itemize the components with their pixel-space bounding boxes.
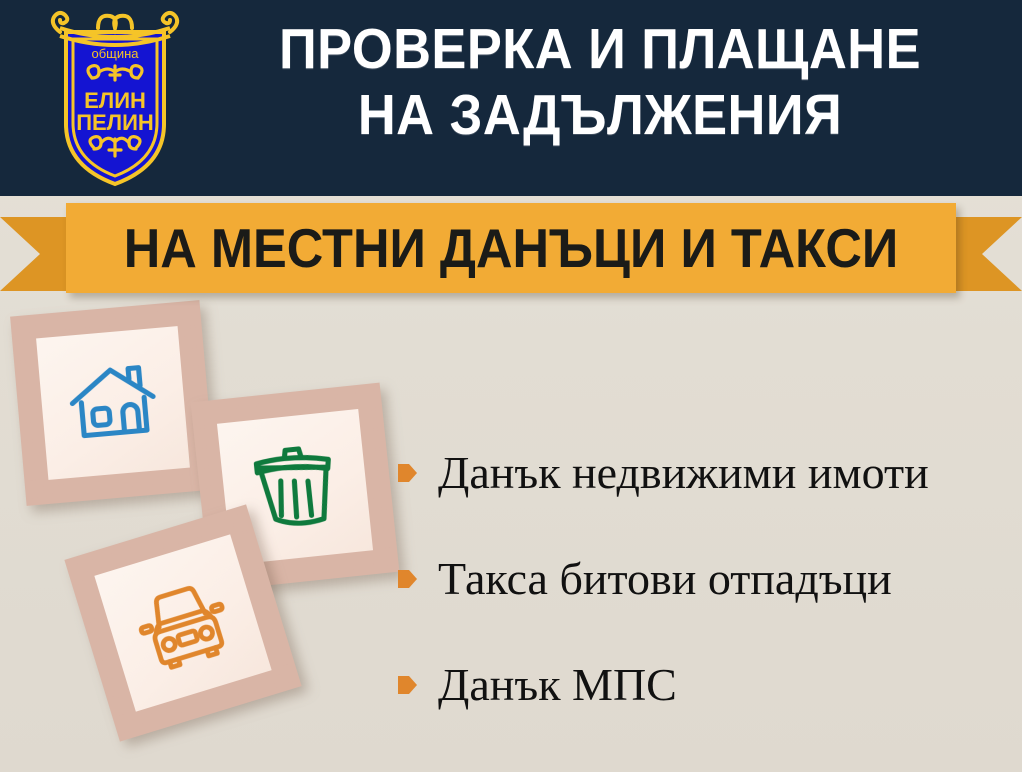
list-item[interactable]: Такса битови отпадъци	[398, 526, 1018, 632]
list-item-label: Данък недвижими имоти	[438, 447, 929, 499]
trash-can-icon	[242, 434, 348, 540]
tax-type-list: Данък недвижими имоти Такса битови отпад…	[398, 420, 1018, 738]
list-item-label: Данък МПС	[438, 659, 677, 711]
page-title: ПРОВЕРКА И ПЛАЩАНЕ НА ЗАДЪЛЖЕНИЯ	[218, 16, 982, 148]
poster-canvas: ПРОВЕРКА И ПЛАЩАНЕ НА ЗАДЪЛЖЕНИЯ	[0, 0, 1022, 772]
house-icon	[61, 351, 165, 455]
municipality-crest-logo: община ЕЛИН ПЕЛИН	[40, 6, 190, 192]
list-item[interactable]: Данък МПС	[398, 632, 1018, 738]
car-front-icon	[123, 563, 243, 683]
arrow-bullet-icon	[398, 673, 418, 697]
crest-line-top: община	[91, 46, 139, 61]
list-item[interactable]: Данък недвижими имоти	[398, 420, 1018, 526]
list-item-label: Такса битови отпадъци	[438, 553, 892, 605]
stamp-house	[10, 300, 216, 506]
stamp-paper-house	[36, 326, 190, 480]
arrow-bullet-icon	[398, 461, 418, 485]
arrow-bullet-icon	[398, 567, 418, 591]
ribbon-label: НА МЕСТНИ ДАНЪЦИ И ТАКСИ	[102, 203, 921, 293]
ribbon-banner: НА МЕСТНИ ДАНЪЦИ И ТАКСИ	[0, 203, 1022, 299]
crest-line-main-2: ПЕЛИН	[76, 110, 154, 135]
stamp-collage	[0, 296, 410, 772]
